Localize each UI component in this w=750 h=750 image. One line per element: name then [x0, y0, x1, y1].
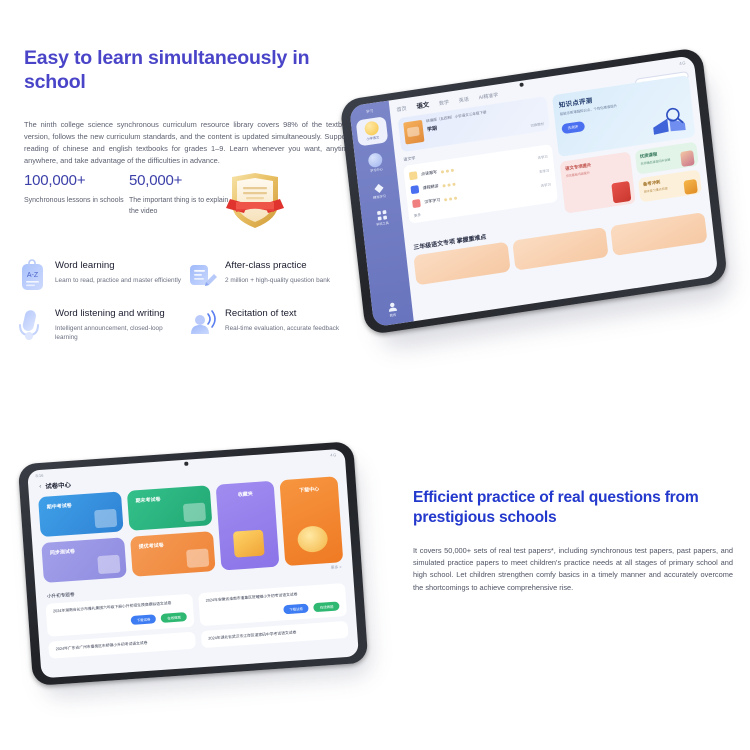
tab-english[interactable]: 英语 — [458, 96, 469, 104]
mini-card-exam-sprint[interactable]: 备考冲刺 期末复习重点梳理 — [638, 169, 702, 202]
feature-title: After-class practice — [225, 260, 330, 272]
paper-plane-icon — [186, 548, 209, 567]
sidebar-item-profile[interactable]: 我的 — [372, 298, 414, 322]
tablet-bezel: 8:16 4G ‹ 试卷中心 期中考试卷 — [18, 441, 369, 686]
folder-star-icon — [233, 530, 265, 558]
feature-desc: Real-time evaluation, accurate feedback — [225, 324, 339, 334]
feature-item-word-learning: A-Z Word learning Learn to read, practic… — [16, 258, 186, 294]
mini-card-quality-courses[interactable]: 优质课程 名师精品课堂同步讲解 — [635, 142, 699, 175]
sidebar-item-label: 我的 — [373, 311, 413, 321]
course-lecture-icon — [410, 185, 419, 194]
mini-card-stack: 优质课程 名师精品课堂同步讲解 备考冲刺 期末复习重点梳理 — [635, 142, 702, 203]
feature-title: Word learning — [55, 260, 181, 272]
download-button[interactable]: 下载试卷 — [283, 603, 309, 614]
exam-paper-icon — [94, 509, 117, 528]
award-shield-icon — [222, 171, 288, 233]
stats-group: 100,000+ Synchronous lessons in schools … — [24, 172, 234, 217]
feature-desc: Learn to read, practice and master effic… — [55, 276, 181, 286]
tablet-device-top: 4G 学习 小学语文 学习中心 — [339, 45, 744, 360]
tile-column: 期中考试卷 期末考试卷 同步测试卷 — [38, 485, 216, 583]
tab-home[interactable]: 首页 — [396, 105, 407, 113]
trophy-icon — [683, 179, 697, 195]
tablet-screen: 8:16 4G ‹ 试卷中心 期中考试卷 — [27, 449, 359, 679]
feature-text: Word learning Learn to read, practice an… — [55, 258, 181, 285]
rating-dots — [441, 168, 454, 173]
sidebar-item-label: 精准学习 — [364, 193, 394, 201]
red-book-icon — [612, 181, 632, 204]
tile-final-papers[interactable]: 期末考试卷 — [127, 485, 213, 531]
paper-card[interactable]: 2024年广东省广州市番禺区市桥镇小升初考试语文试卷 — [48, 631, 196, 659]
sidebar-item-tools[interactable]: 学科工具 — [366, 206, 398, 228]
speaker-waves-icon — [186, 306, 220, 342]
right-column: 知识点评测 智能诊断薄弱知识点，个性化精准提升 去测评 — [552, 75, 702, 214]
tab-chinese[interactable]: 语文 — [416, 100, 430, 111]
section2-text-block: Efficient practice of real questions fro… — [413, 488, 733, 594]
paper-title: 2024年广东省广州市番禺区市桥镇小升初考试语文试卷 — [56, 638, 189, 653]
feature-item-word-listening: Word listening and writing Intelligent a… — [16, 306, 186, 343]
section2-body: It covers 50,000+ sets of real test pape… — [413, 545, 733, 595]
feature-text: Word listening and writing Intelligent a… — [55, 306, 186, 343]
promo-button[interactable]: 去测评 — [561, 121, 585, 134]
character-study-icon — [412, 199, 421, 208]
download-button[interactable]: 下载试卷 — [130, 614, 156, 625]
teacher-icon — [680, 150, 695, 167]
app-main: 首页 语文 数学 英语 AI精准学 — [389, 55, 719, 321]
feature-title: Recitation of text — [225, 308, 339, 320]
status-bar: 4G — [330, 452, 337, 457]
tablet-screen: 4G 学习 小学语文 学习中心 — [349, 55, 718, 327]
section-efficient-practice: Efficient practice of real questions fro… — [0, 400, 750, 750]
exam-paper-icon — [183, 503, 206, 522]
textbook-cover-icon — [403, 120, 424, 145]
tile-download-center[interactable]: 下载中心 — [279, 476, 343, 566]
paper-title: 2024年湖北省武汉市江岸区谌家矶中学考试语文试卷 — [208, 627, 341, 642]
paper-actions: 下载试卷 在线做题 — [54, 612, 187, 630]
sidebar-item-precision-study[interactable]: 精准学习 — [363, 180, 395, 202]
list-item-action[interactable]: 去学习 — [537, 153, 548, 159]
document-pencil-icon — [186, 258, 220, 294]
paper-card[interactable]: 2024年安徽省淮南市潘集区贺疃镇小升初考试语文试卷 下载试卷 在线做题 — [198, 583, 347, 626]
section2-heading: Efficient practice of real questions fro… — [413, 488, 733, 529]
word-card-icon: A-Z — [16, 258, 50, 294]
tile-grid: 期中考试卷 期末考试卷 同步测试卷 — [38, 476, 343, 583]
tab-math[interactable]: 数学 — [439, 99, 450, 107]
tile-advanced-tests[interactable]: 提优考试卷 — [130, 531, 216, 577]
grid-icon — [375, 209, 387, 222]
tablet-device-bottom: 8:16 4G ‹ 试卷中心 期中考试卷 — [18, 440, 385, 714]
feature-text: Recitation of text Real-time evaluation,… — [225, 306, 339, 333]
chevron-left-icon[interactable]: ‹ — [39, 483, 41, 489]
feature-item-recitation: Recitation of text Real-time evaluation,… — [186, 306, 356, 343]
online-practice-button[interactable]: 在线做题 — [314, 601, 340, 612]
feature-grid: A-Z Word learning Learn to read, practic… — [16, 258, 356, 355]
person-icon — [386, 301, 398, 314]
download-cloud-icon — [297, 525, 329, 553]
list-item-label: 课程精讲 — [422, 183, 439, 191]
section1-text-block: Easy to learn simultaneously in school T… — [24, 46, 354, 167]
book-magnifier-icon — [647, 103, 690, 139]
svg-text:A-Z: A-Z — [27, 272, 39, 279]
feature-desc: 2 million + high-quality question bank — [225, 276, 330, 286]
tile-sync-tests[interactable]: 同步测试卷 — [41, 537, 127, 583]
sidebar-item-study-center[interactable]: 学习中心 — [360, 151, 392, 175]
feature-text: After-class practice 2 million + high-qu… — [225, 258, 330, 285]
cloud-icon — [368, 152, 383, 168]
sidebar-item-label: 小学语文 — [358, 135, 388, 143]
list-item-action[interactable]: 去学习 — [539, 167, 550, 173]
microphone-icon — [16, 306, 50, 342]
feature-row: A-Z Word learning Learn to read, practic… — [16, 258, 356, 294]
section1-body: The ninth college science synchronous cu… — [24, 119, 354, 167]
sidebar-item-label: 学科工具 — [368, 220, 398, 228]
left-column: 统编版（五四制）小学语文三年级下册 学期 切换教材 语文学 点 — [398, 96, 560, 236]
section-easy-to-learn: Easy to learn simultaneously in school T… — [0, 0, 750, 400]
stat-label: Synchronous lessons in schools — [24, 196, 129, 207]
camera-icon — [184, 462, 188, 466]
stat-label: The important thing is to explain the vi… — [129, 196, 234, 217]
list-item-label: 汉字学习 — [424, 197, 441, 205]
feature-row: Word listening and writing Intelligent a… — [16, 306, 356, 343]
stat-item: 100,000+ Synchronous lessons in schools — [24, 172, 129, 217]
sidebar-item-chinese[interactable]: 小学语文 — [356, 116, 389, 146]
sidebar-brand: 学习 — [366, 109, 374, 115]
feature-item-after-class-practice: After-class practice 2 million + high-qu… — [186, 258, 356, 294]
read-aloud-icon — [409, 171, 418, 180]
sidebar-item-label: 学习中心 — [361, 167, 391, 175]
status-time: 8:16 — [35, 473, 43, 479]
tab-ai-precision[interactable]: AI精准学 — [478, 91, 498, 101]
stat-item: 50,000+ The important thing is to explai… — [129, 172, 234, 217]
paper-actions: 下载试卷 在线做题 — [206, 601, 339, 619]
status-bar: 4G — [679, 60, 686, 66]
pencil-paper-icon — [97, 555, 120, 574]
paper-card[interactable]: 2024年湖南省长沙市雅礼集团六年级下册小升初招生摸底模拟语文试卷 下载试卷 在… — [45, 594, 194, 637]
marketing-page: Easy to learn simultaneously in school T… — [0, 0, 750, 750]
stat-number: 50,000+ — [129, 172, 234, 189]
section1-heading: Easy to learn simultaneously in school — [24, 46, 354, 95]
tile-label: 收藏夹 — [224, 489, 266, 499]
tile-midterm-papers[interactable]: 期中考试卷 — [38, 491, 124, 537]
online-practice-button[interactable]: 在线做题 — [161, 612, 187, 623]
feature-desc: Intelligent announcement, closed-loop le… — [55, 324, 186, 344]
page-title: 试卷中心 — [45, 480, 71, 491]
tile-favorites[interactable]: 收藏夹 — [216, 481, 280, 571]
feature-title: Word listening and writing — [55, 308, 186, 320]
sun-avatar-icon — [364, 120, 379, 136]
list-item-label: 点读跟写 — [421, 169, 438, 177]
rating-dots — [442, 182, 455, 187]
diamond-icon — [372, 182, 384, 195]
tile-label: 下载中心 — [288, 485, 330, 495]
list-item-action[interactable]: 去学习 — [540, 181, 551, 187]
rating-dots — [444, 196, 457, 201]
mini-card-chinese-boost[interactable]: 语文专项提升 夯实基础巩固提分 — [559, 151, 636, 213]
stat-number: 100,000+ — [24, 172, 129, 189]
paper-card[interactable]: 2024年湖北省武汉市江岸区谌家矶中学考试语文试卷 — [201, 621, 349, 649]
